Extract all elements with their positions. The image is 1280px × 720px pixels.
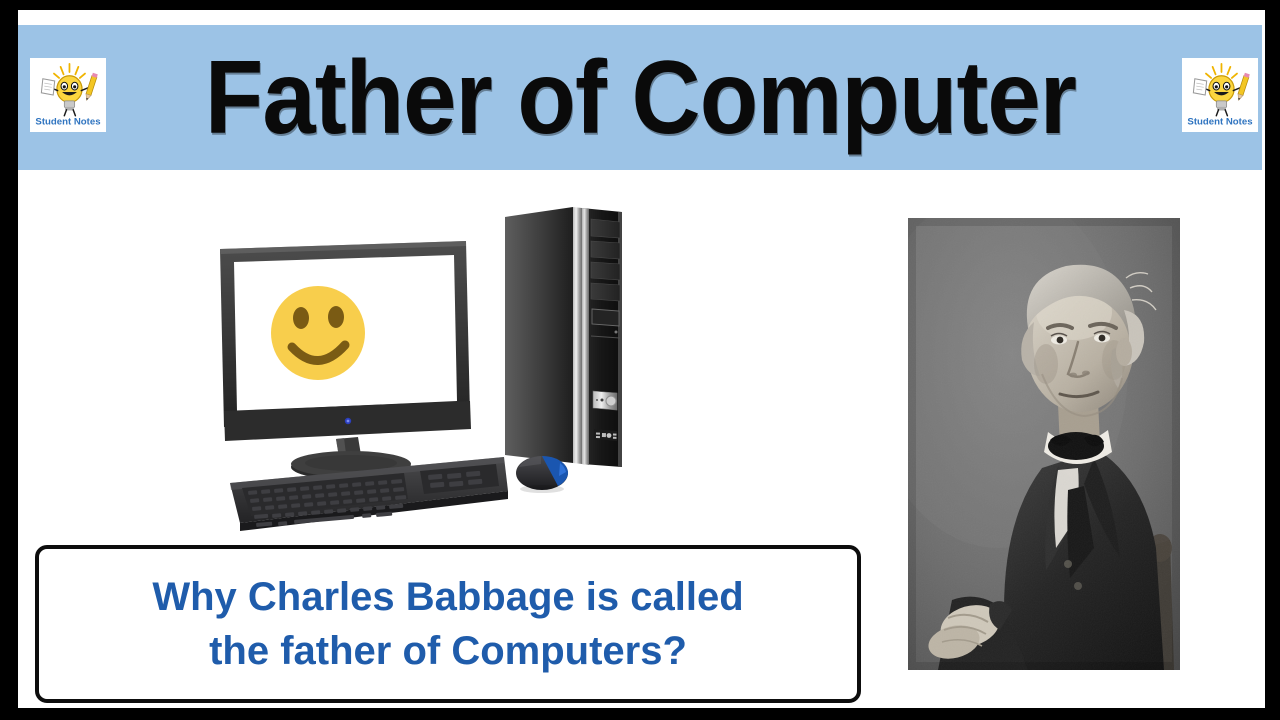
question-box: Why Charles Babbage is called the father… xyxy=(35,545,861,703)
desktop-computer-illustration xyxy=(208,205,628,535)
svg-text:Student Notes: Student Notes xyxy=(1187,117,1252,128)
smiley-face-icon xyxy=(271,286,365,380)
tower-front-ports xyxy=(594,429,617,441)
header-band: Father of Computer xyxy=(18,25,1262,170)
mouse xyxy=(516,456,568,493)
page-title: Father of Computer xyxy=(204,46,1075,150)
question-line-2: the father of Computers? xyxy=(209,628,687,674)
monitor xyxy=(220,241,471,441)
tower-case xyxy=(505,207,622,467)
slide-root: Father of Computer xyxy=(0,0,1280,720)
svg-text:Student Notes: Student Notes xyxy=(35,117,100,128)
logo-left[interactable]: Student Notes xyxy=(30,58,106,132)
logo-right[interactable]: Student Notes xyxy=(1182,58,1258,132)
charles-babbage-portrait xyxy=(908,218,1180,670)
lightbulb-student-notes-icon: Student Notes xyxy=(1182,58,1258,132)
slide-canvas: Father of Computer xyxy=(18,10,1265,708)
question-line-1: Why Charles Babbage is called xyxy=(152,574,743,620)
tower-power-panel xyxy=(593,391,617,410)
lightbulb-student-notes-icon: Student Notes xyxy=(30,58,106,132)
